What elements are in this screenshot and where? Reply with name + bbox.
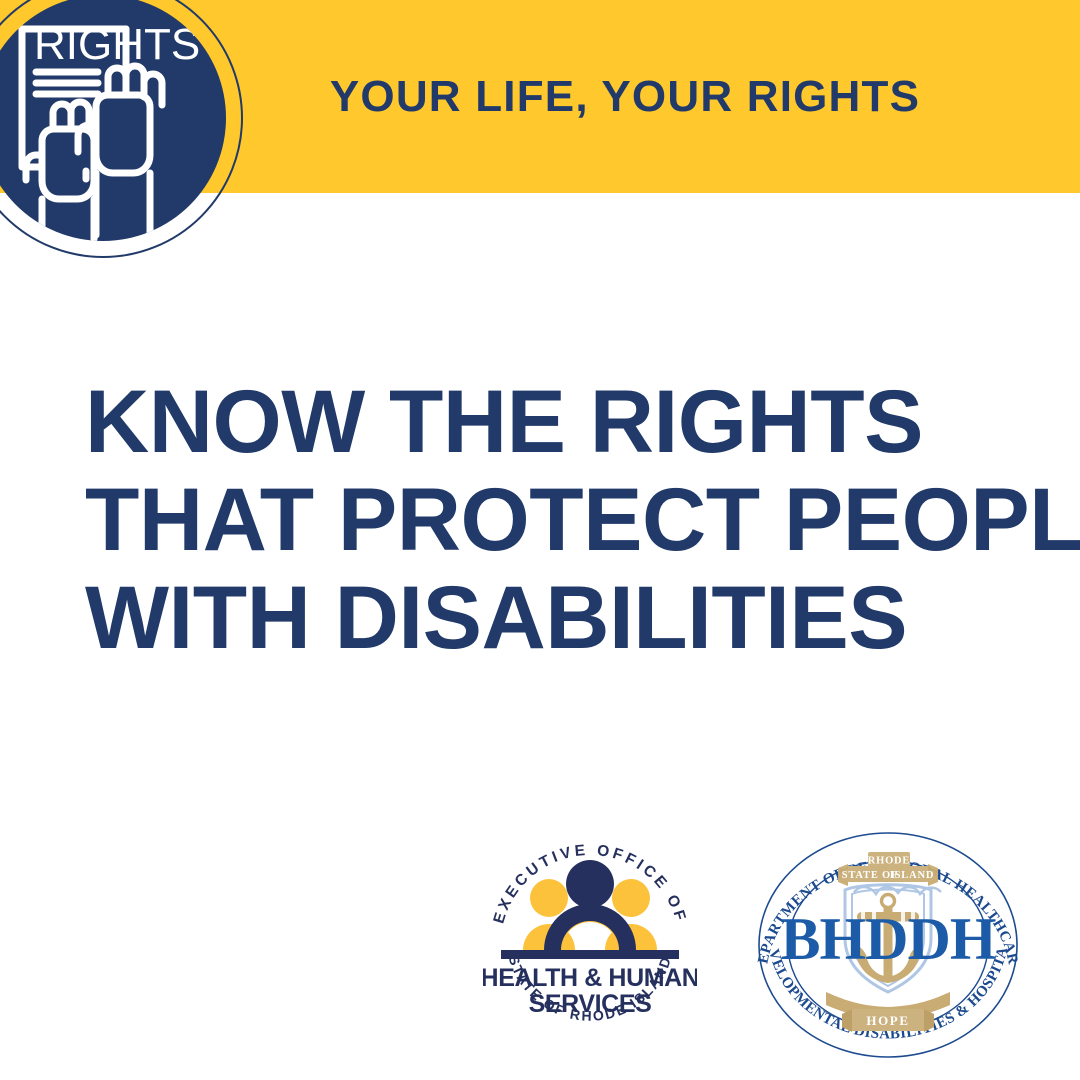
bhddh-seal: DEPARTMENT OF BEHAVIORAL HEALTHCARE DEVE… — [752, 832, 1024, 1058]
seal-banner-center: RHODE — [868, 856, 911, 867]
poster-canvas: YOUR LIFE, YOUR RIGHTS — [0, 0, 1080, 1080]
rights-badge: RIGHTS — [0, 0, 247, 262]
bhddh-acronym: BHDDH — [780, 906, 995, 972]
badge-label: RIGHTS — [34, 20, 200, 69]
banner-title: YOUR LIFE, YOUR RIGHTS — [305, 0, 945, 193]
headline-line-2: THAT PROTECT PEOPLE — [85, 470, 1005, 568]
seal-banner-right: ISLAND — [890, 870, 934, 881]
headline-line-1: KNOW THE RIGHTS — [85, 372, 1005, 470]
raised-fists-document-icon: RIGHTS — [0, 0, 226, 241]
headline: KNOW THE RIGHTS THAT PROTECT PEOPLE WITH… — [85, 372, 1005, 666]
headline-line-3: WITH DISABILITIES — [85, 568, 1005, 666]
eohhs-logo: EXECUTIVE OFFICE OF HEALTH & HUMAN SERVI… — [483, 826, 697, 1040]
seal-motto: HOPE — [866, 1013, 909, 1028]
